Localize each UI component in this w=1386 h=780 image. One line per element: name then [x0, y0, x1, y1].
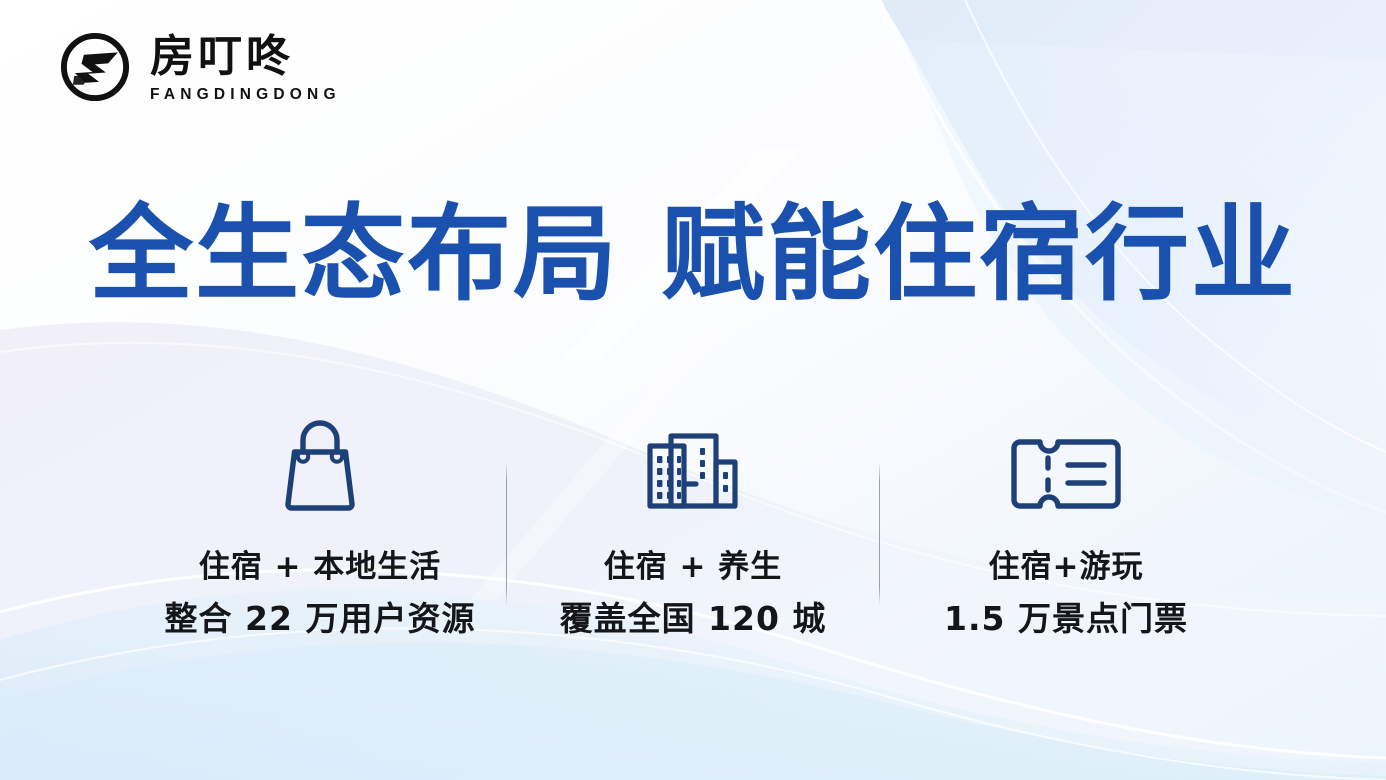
feature-text: 住宿+游玩 1.5 万景点门票 — [944, 548, 1188, 640]
feature-row: 住宿 + 本地生活 整合 22 万用户资源 — [0, 412, 1386, 640]
feature-line-primary: 住宿 + 本地生活 — [165, 548, 476, 588]
headline-part-2: 赋能住宿行业 — [661, 193, 1297, 315]
brand-logo[interactable]: 房叮咚 FANGDINGDONG — [58, 30, 341, 104]
shopping-bag-icon — [272, 412, 368, 516]
feature-icon-wrap — [272, 412, 368, 516]
ticket-icon — [1006, 412, 1126, 516]
brand-wordmark: 房叮咚 FANGDINGDONG — [150, 31, 341, 103]
feature-line-primary: 住宿 + 养生 — [560, 548, 827, 588]
feature-text: 住宿 + 养生 覆盖全国 120 城 — [560, 548, 827, 640]
brand-name-en: FANGDINGDONG — [150, 87, 341, 103]
feature-card-local-life[interactable]: 住宿 + 本地生活 整合 22 万用户资源 — [134, 412, 506, 640]
brand-name-cn: 房叮咚 — [150, 35, 341, 79]
feature-line-secondary: 覆盖全国 120 城 — [560, 598, 827, 640]
buildings-icon — [638, 412, 748, 516]
feature-card-sightseeing[interactable]: 住宿+游玩 1.5 万景点门票 — [880, 412, 1252, 640]
feature-text: 住宿 + 本地生活 整合 22 万用户资源 — [165, 548, 476, 640]
slide-root: 房叮咚 FANGDINGDONG 全生态布局赋能住宿行业 住宿 + 本地生 — [0, 0, 1386, 780]
feature-card-wellness[interactable]: 住宿 + 养生 覆盖全国 120 城 — [507, 412, 879, 640]
page-title: 全生态布局赋能住宿行业 — [0, 196, 1386, 312]
headline-part-1: 全生态布局 — [89, 193, 619, 315]
background-decoration — [0, 0, 1386, 780]
feature-icon-wrap — [1006, 412, 1126, 516]
feature-line-secondary: 1.5 万景点门票 — [944, 598, 1188, 640]
feature-line-secondary: 整合 22 万用户资源 — [165, 598, 476, 640]
feature-line-primary: 住宿+游玩 — [944, 548, 1188, 588]
feature-icon-wrap — [638, 412, 748, 516]
fangdingdong-circular-emblem-icon — [58, 30, 132, 104]
